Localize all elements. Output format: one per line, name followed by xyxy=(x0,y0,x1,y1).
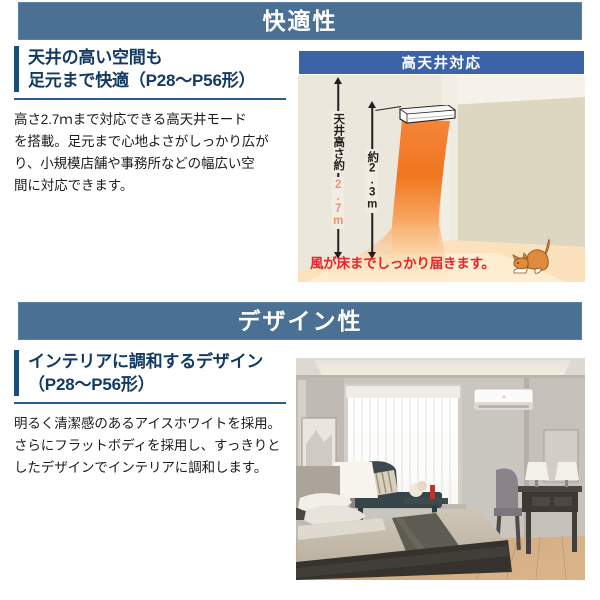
text-column-comfort: 天井の高い空間も 足元まで快適（P28〜P56形） 高さ2.7ｍまで対応できる高… xyxy=(14,46,286,197)
illustration-title-label: 高天井対応 xyxy=(402,52,482,73)
cat-eye xyxy=(517,262,519,264)
heading-design-line-1: インテリアに調和するデザイン xyxy=(28,351,263,374)
cat-body xyxy=(526,250,548,270)
heading-design-line-2: （P28〜P56形） xyxy=(28,374,263,397)
air-conditioner-icon xyxy=(398,105,456,125)
heading-design: インテリアに調和するデザイン （P28〜P56形） xyxy=(28,350,263,396)
body-design-line-1: 明るく清潔感のあるアイスホワイトを採用。 xyxy=(14,413,286,435)
catalog-page: 快適性 天井の高い空間も 足元まで快適（P28〜P56形） 高さ2.7ｍまで対応… xyxy=(0,0,600,600)
illustration-caption: 風が床までしっかり届きます。 xyxy=(310,252,495,272)
wall-air-conditioner xyxy=(474,389,533,410)
body-comfort-line-3: り、小規模店舗や事務所などの幅広い空 xyxy=(14,153,286,175)
heading-comfort-line-2: 足元まで快適（P28〜P56形） xyxy=(28,70,255,93)
body-design-line-3: したデザインでインテリアに調和します。 xyxy=(14,457,286,479)
ceiling-cove xyxy=(314,360,571,375)
dim-unit-label: 約2.3m xyxy=(366,149,378,213)
illustration-high-ceiling: 高天井対応 xyxy=(298,50,585,282)
cat-icon xyxy=(508,236,560,276)
text-column-design: インテリアに調和するデザイン （P28〜P56形） 明るく清潔感のあるアイスホワ… xyxy=(14,350,286,479)
body-design-line-2: さらにフラットボディを採用し、すっきりと xyxy=(14,435,286,457)
heading-rule-comfort xyxy=(14,98,286,100)
section-banner-label-comfort: 快適性 xyxy=(263,10,338,33)
bedroom-interior-photo xyxy=(296,358,585,580)
section-banner-design: デザイン性 xyxy=(18,302,582,340)
body-comfort-line-2: を搭載。足元まで心地よさがしっかり広が xyxy=(14,131,286,153)
illustration-stage: 天井高さ約 2.7m 約2.3m xyxy=(298,75,585,282)
heading-comfort: 天井の高い空間も 足元まで快適（P28〜P56形） xyxy=(28,46,255,92)
ceiling-edge xyxy=(296,375,585,378)
dim-ceiling-label-text: 天井高さ約 xyxy=(332,111,344,173)
red-bottle xyxy=(430,485,435,499)
back-wall xyxy=(450,97,585,247)
body-text-design: 明るく清潔感のあるアイスホワイトを採用。 さらにフラットボディを採用し、すっきり… xyxy=(14,413,286,479)
heading-row-design: インテリアに調和するデザイン （P28〜P56形） xyxy=(14,350,286,396)
section-banner-label-design: デザイン性 xyxy=(238,310,363,333)
body-comfort-line-1: 高さ2.7ｍまで対応できる高天井モード xyxy=(14,109,286,131)
body-comfort-line-4: 間に対応できます。 xyxy=(14,175,286,197)
heading-accent-bar-design xyxy=(14,350,19,396)
heading-row-comfort: 天井の高い空間も 足元まで快適（P28〜P56形） xyxy=(14,46,286,92)
body-text-comfort: 高さ2.7ｍまで対応できる高天井モード を搭載。足元まで心地よさがしっかり広が … xyxy=(14,109,286,196)
section-banner-comfort: 快適性 xyxy=(18,2,582,40)
dim-ceiling-label-value: 2.7m xyxy=(332,177,344,229)
heading-accent-bar-comfort xyxy=(14,46,19,92)
heading-rule-design xyxy=(14,402,286,404)
illustration-titlebar: 高天井対応 xyxy=(298,50,585,75)
heading-comfort-line-1: 天井の高い空間も xyxy=(28,47,255,70)
cat-hind-leg xyxy=(535,268,541,273)
bedroom-photo-svg xyxy=(296,358,585,580)
